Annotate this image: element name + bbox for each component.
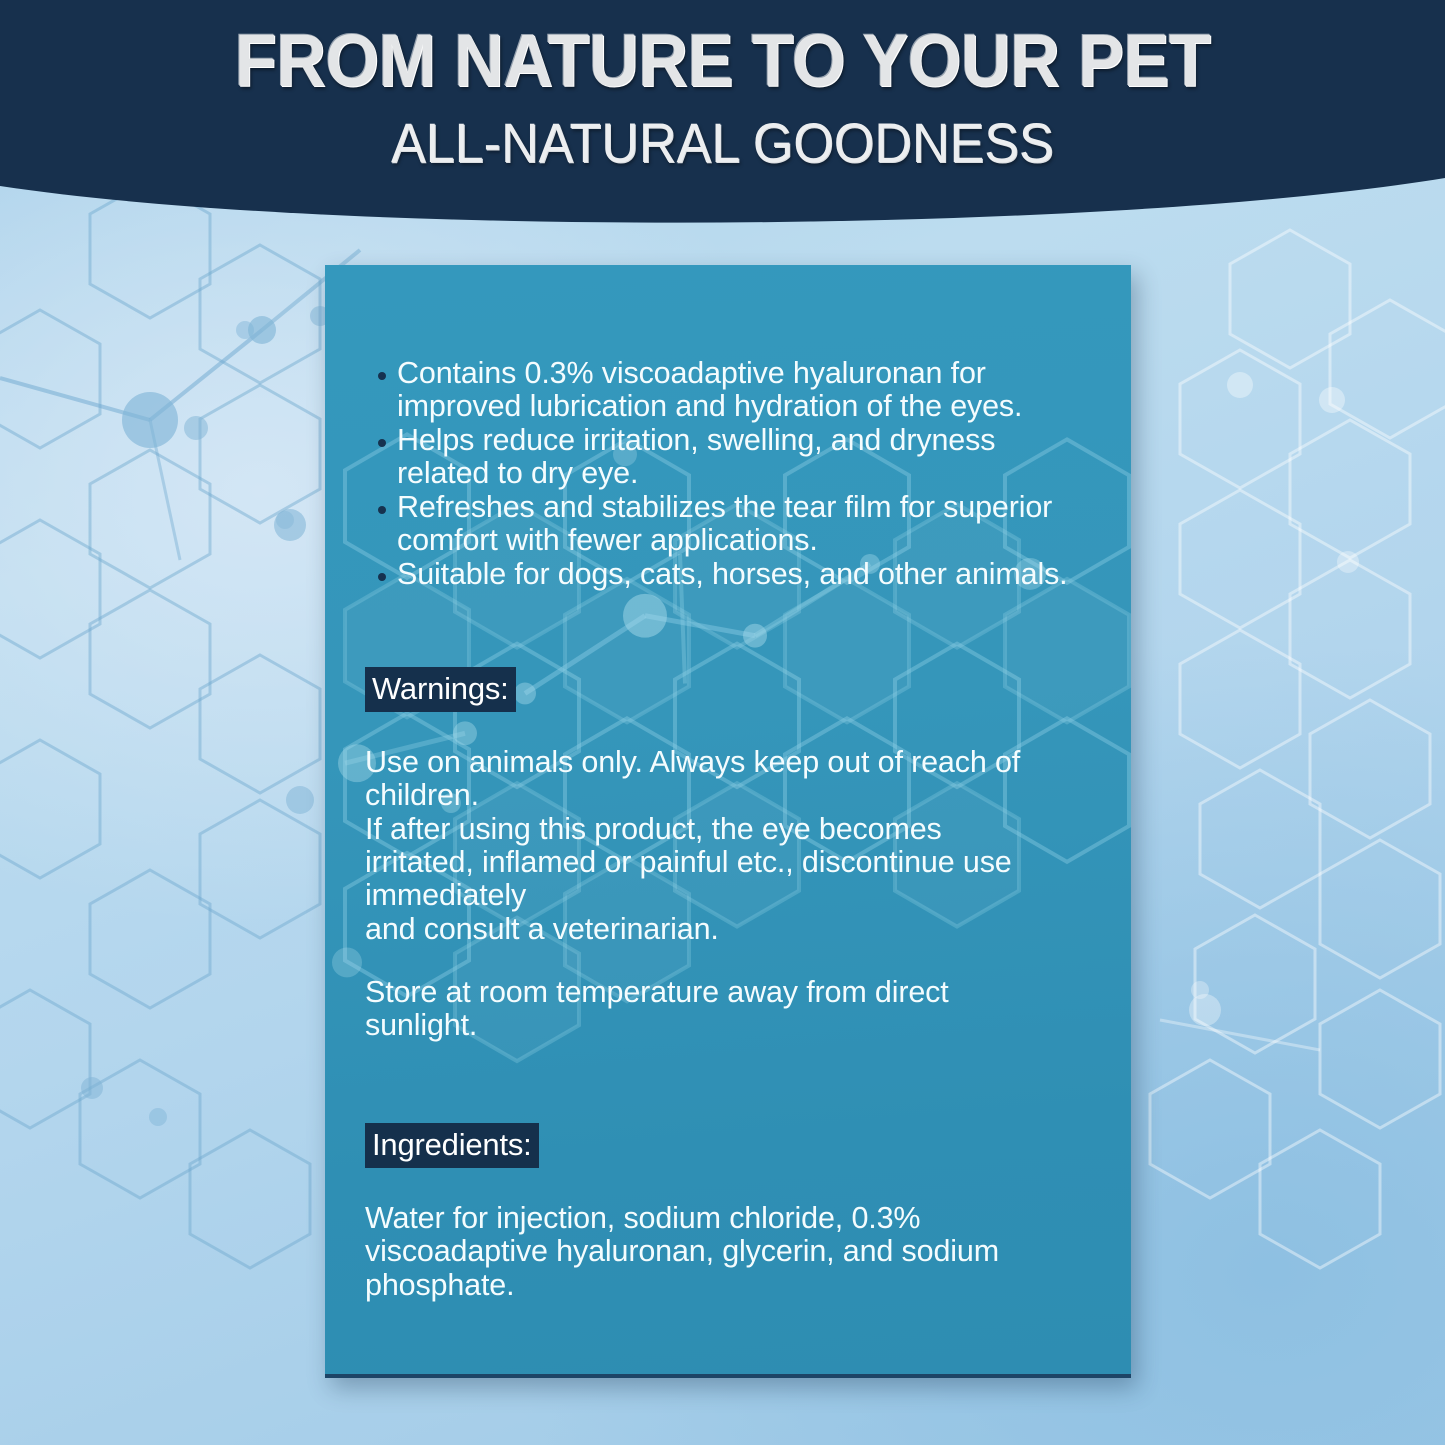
list-item: Contains 0.3% viscoadaptive hyaluronan f… <box>365 357 1091 423</box>
list-item: Refreshes and stabilizes the tear film f… <box>365 491 1091 557</box>
product-info-page: FROM NATURE TO YOUR PET ALL-NATURAL GOOD… <box>0 0 1445 1445</box>
page-title: FROM NATURE TO YOUR PET <box>235 22 1211 100</box>
page-subtitle: ALL-NATURAL GOODNESS <box>391 114 1054 173</box>
ingredients-heading: Ingredients: <box>365 1123 539 1168</box>
storage-text: Store at room temperature away from dire… <box>365 976 1091 1043</box>
info-card: Contains 0.3% viscoadaptive hyaluronan f… <box>325 265 1131 1378</box>
list-item: Helps reduce irritation, swelling, and d… <box>365 424 1091 490</box>
page-header: FROM NATURE TO YOUR PET ALL-NATURAL GOOD… <box>0 0 1445 240</box>
ingredients-text: Water for injection, sodium chloride, 0.… <box>365 1202 1091 1302</box>
warnings-heading: Warnings: <box>365 667 516 712</box>
list-item: Suitable for dogs, cats, horses, and oth… <box>365 558 1091 591</box>
warnings-text: Use on animals only. Always keep out of … <box>365 746 1091 946</box>
feature-bullet-list: Contains 0.3% viscoadaptive hyaluronan f… <box>365 357 1091 592</box>
